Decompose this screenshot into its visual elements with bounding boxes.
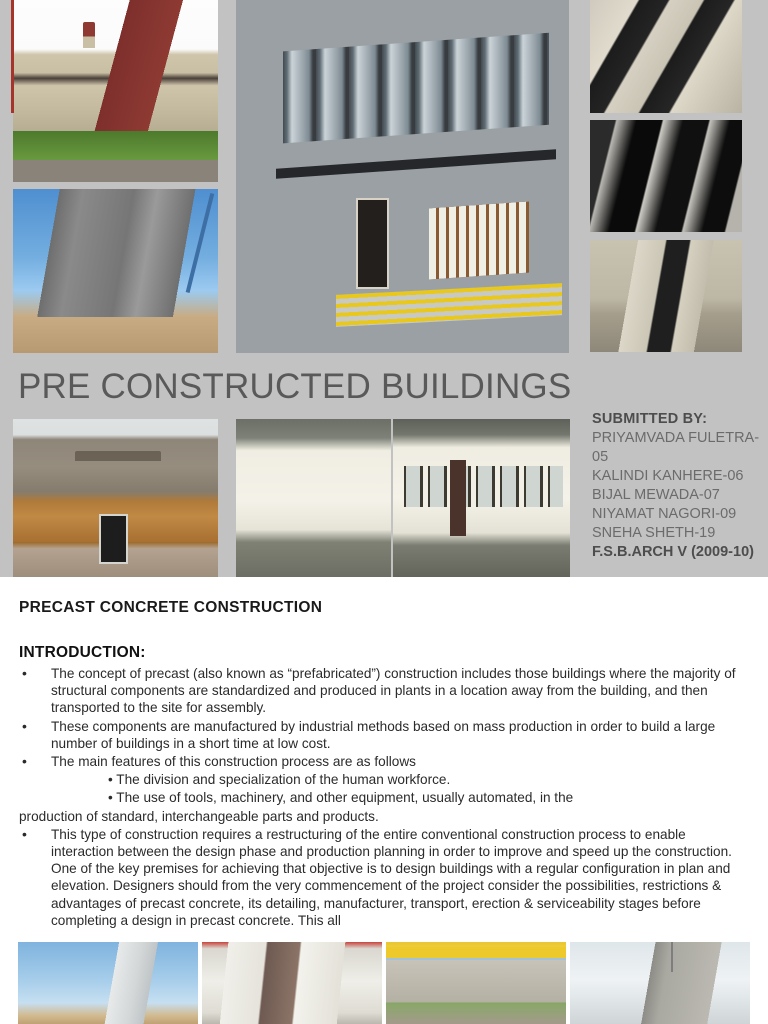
precast-u-channel-photo <box>590 240 742 352</box>
upper-window-band <box>283 33 549 143</box>
bullet-marker: • <box>22 665 27 682</box>
dolese-sales-office-photo <box>13 419 218 577</box>
dolese-signage <box>75 451 161 473</box>
white-modular-office-photo-a <box>236 419 391 577</box>
submitter-name: KALINDI KANHERE-06 <box>592 467 768 486</box>
bullet-text: The main features of this construction p… <box>51 753 741 770</box>
sub-bullet-item: • The division and specialization of the… <box>19 771 741 788</box>
bullet-marker: • <box>22 718 27 735</box>
bullet-item: • The main features of this construction… <box>19 753 741 770</box>
submitted-by-heading: SUBMITTED BY: <box>592 410 768 429</box>
white-modular-office-photo-b <box>393 419 570 577</box>
introduction-heading: INTRODUCTION: <box>19 644 146 662</box>
hoisted-concrete-box-photo <box>570 942 750 1024</box>
window-band <box>404 466 563 507</box>
section-heading: PRECAST CONCRETE CONSTRUCTION <box>19 599 322 617</box>
facade-panel-install-photo <box>202 942 382 1024</box>
submitter-name: PRIYAMVADA FULETRA-05 <box>592 429 768 467</box>
gantry-crane-panel-photo <box>386 942 566 1024</box>
submitter-name: NIYAMAT NAGORI-09 <box>592 505 768 524</box>
submitted-by-block: SUBMITTED BY: PRIYAMVADA FULETRA-05 KALI… <box>592 410 768 562</box>
bullet-item: • The concept of precast (also known as … <box>19 665 741 717</box>
civic-office-building-photo <box>13 0 218 182</box>
slide-body-area: PRECAST CONCRETE CONSTRUCTION INTRODUCTI… <box>0 577 768 1024</box>
parking-garage-erection-photo <box>13 189 218 353</box>
presentation-slide-page: PRE CONSTRUCTED BUILDINGS SUBMITTED BY: … <box>0 0 768 1024</box>
bullet-item: • This type of construction requires a r… <box>19 826 741 929</box>
bullet-text: This type of construction requires a res… <box>51 826 741 929</box>
safety-guard-rail <box>336 284 562 328</box>
bullet-text: The concept of precast (also known as “p… <box>51 665 741 717</box>
hollow-core-slab-photo <box>590 120 742 232</box>
slide-title: PRE CONSTRUCTED BUILDINGS <box>18 366 571 408</box>
sub-bullet-continuation: production of standard, interchangeable … <box>19 808 741 825</box>
bottom-photo-strip <box>0 942 768 1024</box>
dolese-entry-door <box>99 514 128 565</box>
entry-door <box>356 198 389 290</box>
submitter-name: SNEHA SHETH-19 <box>592 524 768 543</box>
notice-board <box>429 201 529 279</box>
concrete-hollow-block-photo <box>590 0 742 113</box>
submitter-name: BIJAL MEWADA-07 <box>592 486 768 505</box>
slide-header-area: PRE CONSTRUCTED BUILDINGS SUBMITTED BY: … <box>0 0 768 577</box>
bullet-marker: • <box>22 826 27 843</box>
modular-two-storey-inplant-office-photo <box>236 0 569 353</box>
introduction-bullet-list: • The concept of precast (also known as … <box>19 665 741 930</box>
bullet-item: • These components are manufactured by i… <box>19 718 741 752</box>
course-label: F.S.B.ARCH V (2009-10) <box>592 543 768 562</box>
panel-lift-crane-photo <box>18 942 198 1024</box>
red-accent-bar <box>11 0 14 113</box>
sub-bullet-item: • The use of tools, machinery, and other… <box>19 789 741 806</box>
bullet-marker: • <box>22 753 27 770</box>
bullet-text: These components are manufactured by ind… <box>51 718 741 752</box>
floor-trim-band <box>276 149 556 179</box>
corner-door <box>450 460 466 536</box>
